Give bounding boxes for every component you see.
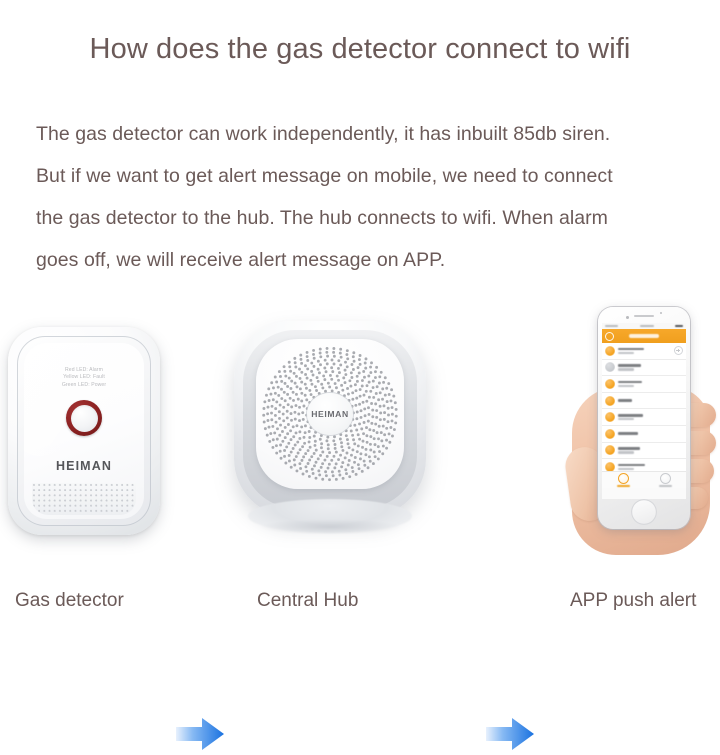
device-row-text: [618, 381, 683, 388]
device-status: [618, 451, 634, 453]
caption-app-push-alert: APP push alert: [570, 590, 696, 612]
hub-brand-logo: HEIMAN: [311, 409, 349, 419]
app-device-list[interactable]: [602, 343, 686, 471]
smartphone: [598, 307, 690, 529]
device-row-text: [618, 399, 683, 402]
body-line-3: the gas detector to the hub. The hub con…: [36, 197, 696, 239]
device-name: [618, 464, 645, 467]
status-battery-icon: [675, 325, 683, 328]
devices-tab-icon: [618, 473, 629, 484]
app-push-alert-figure: [560, 285, 720, 575]
central-hub-figure: HEIMAN: [228, 285, 433, 575]
device-icon: [605, 346, 615, 356]
device-row-text: [618, 348, 674, 355]
app-tab-bar: [602, 471, 686, 488]
device-status: [618, 352, 634, 354]
device-icon: [605, 445, 615, 455]
add-device-icon[interactable]: [674, 346, 683, 355]
app-menu-icon[interactable]: [605, 332, 614, 341]
device-status: [618, 418, 634, 420]
figure-strip: Red LED: Alarm Yellow LED: Fault Green L…: [0, 285, 720, 575]
hub-center-badge: HEIMAN: [307, 393, 353, 435]
device-status: [618, 468, 634, 470]
led-label-yellow: Yellow LED: Fault: [24, 374, 144, 381]
app-navigation-bar: [602, 329, 686, 343]
device-row-text: [618, 364, 683, 371]
phone-home-button[interactable]: [631, 499, 657, 525]
device-name: [618, 364, 641, 367]
body-line-4: goes off, we will receive alert message …: [36, 239, 696, 281]
phone-screen: [602, 323, 686, 499]
device-icon: [605, 396, 615, 406]
app-device-row[interactable]: [602, 443, 686, 460]
settings-tab-label: [659, 485, 672, 487]
hub-shadow: [258, 519, 402, 535]
device-name: [618, 381, 642, 384]
app-title: [629, 334, 659, 337]
phone-sensor-icon: [660, 312, 662, 314]
app-device-row[interactable]: [602, 343, 686, 360]
device-name: [618, 399, 632, 402]
phone-in-hand-image: [568, 293, 718, 563]
push-to-test-label: PUSH TO TEST: [46, 435, 122, 455]
device-icon: [605, 429, 615, 439]
device-name: [618, 414, 643, 417]
device-icon: [605, 379, 615, 389]
device-icon: [605, 362, 615, 372]
hub-top-panel: HEIMAN: [256, 339, 404, 489]
device-row-text: [618, 432, 683, 435]
app-device-row[interactable]: [602, 360, 686, 377]
body-line-1: The gas detector can work independently,…: [36, 113, 696, 155]
detector-brand-logo: HEIMAN: [24, 459, 144, 473]
devices-tab-label: [617, 485, 630, 487]
device-status: [618, 385, 634, 387]
arrow-right-icon-1: [172, 713, 228, 755]
status-carrier: [605, 325, 618, 328]
device-name: [618, 447, 640, 450]
device-row-text: [618, 414, 683, 421]
detector-face: Red LED: Alarm Yellow LED: Fault Green L…: [24, 343, 144, 519]
device-row-text: [618, 447, 683, 454]
app-device-row[interactable]: [602, 426, 686, 443]
device-status: [618, 368, 634, 370]
detector-speaker-grille: [32, 483, 136, 515]
phone-earpiece: [634, 315, 654, 317]
caption-gas-detector: Gas detector: [15, 590, 124, 612]
page-title: How does the gas detector connect to wif…: [0, 33, 720, 66]
detector-led-legend: Red LED: Alarm Yellow LED: Fault Green L…: [24, 367, 144, 389]
gas-detector-figure: Red LED: Alarm Yellow LED: Fault Green L…: [0, 285, 175, 575]
app-device-row[interactable]: [602, 376, 686, 393]
caption-central-hub: Central Hub: [257, 590, 358, 612]
device-name: [618, 432, 638, 435]
phone-front-camera-icon: [626, 316, 629, 319]
app-device-row[interactable]: [602, 393, 686, 410]
settings-gear-icon: [660, 473, 671, 484]
device-icon: [605, 462, 615, 471]
body-paragraph: The gas detector can work independently,…: [36, 113, 696, 281]
led-label-green: Green LED: Power: [24, 382, 144, 389]
central-hub-image: HEIMAN: [234, 321, 430, 541]
app-device-row[interactable]: [602, 409, 686, 426]
body-line-2: But if we want to get alert message on m…: [36, 155, 696, 197]
arrow-right-icon-2: [482, 713, 538, 755]
status-clock: [640, 325, 654, 328]
app-tab-devices[interactable]: [617, 473, 630, 487]
device-row-text: [618, 464, 683, 471]
app-tab-settings[interactable]: [659, 473, 672, 487]
push-to-test-button[interactable]: [66, 400, 102, 436]
app-device-row[interactable]: [602, 459, 686, 471]
push-to-test-button-core: [71, 405, 98, 432]
device-name: [618, 348, 644, 351]
led-label-red: Red LED: Alarm: [24, 367, 144, 374]
device-icon: [605, 412, 615, 422]
gas-detector-image: Red LED: Alarm Yellow LED: Fault Green L…: [8, 327, 163, 537]
